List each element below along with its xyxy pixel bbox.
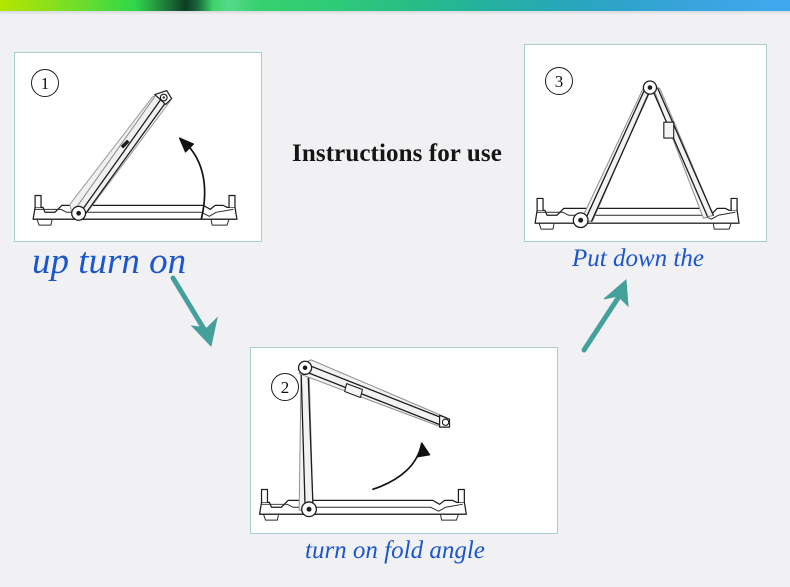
flow-arrow-step1-to-step2 bbox=[165, 272, 255, 358]
step-panel-2: 2 bbox=[250, 347, 558, 534]
illustration-step-1 bbox=[15, 53, 261, 241]
flow-arrow-step2-to-step3 bbox=[578, 272, 668, 358]
step-caption-3: Put down the bbox=[572, 246, 704, 271]
illustration-step-3 bbox=[525, 45, 766, 241]
step-caption-1: up turn on bbox=[32, 243, 186, 280]
motion-arrow-icon-2 bbox=[372, 443, 429, 489]
instruction-sheet: 1 bbox=[0, 0, 790, 587]
step-caption-2: turn on fold angle bbox=[305, 538, 485, 563]
gradient-accent-bar bbox=[0, 0, 790, 11]
page-title: Instructions for use bbox=[252, 140, 542, 168]
illustration-step-2 bbox=[251, 348, 557, 533]
step-panel-1: 1 bbox=[14, 52, 262, 242]
step-panel-3: 3 bbox=[524, 44, 767, 242]
accent-bar-shadow bbox=[0, 11, 790, 15]
